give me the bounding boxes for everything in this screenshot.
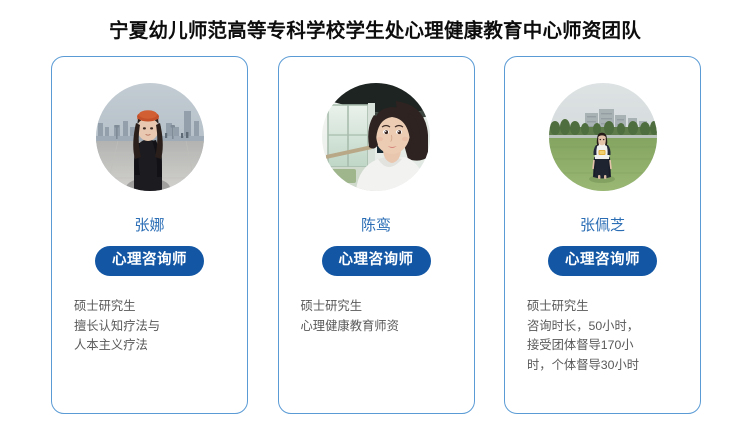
avatar-photo-zhangna <box>96 83 204 191</box>
person-description: 硕士研究生 擅长认知疗法与 人本主义疗法 <box>74 297 235 356</box>
desc-line: 硕士研究生 <box>74 297 235 317</box>
badge-container: 心理咨询师 <box>505 246 700 276</box>
desc-line: 心理健康教育师资 <box>301 317 462 337</box>
avatar <box>96 83 204 191</box>
person-name: 陈鸾 <box>279 214 474 235</box>
desc-line: 接受团体督导170小 <box>527 336 688 356</box>
page-title: 宁夏幼儿师范高等专科学校学生处心理健康教育中心师资团队 <box>0 14 750 43</box>
poster-root: 宁夏幼儿师范高等专科学校学生处心理健康教育中心师资团队 <box>0 0 750 442</box>
person-name: 张娜 <box>52 214 247 235</box>
desc-line: 擅长认知疗法与 <box>74 317 235 337</box>
teacher-card[interactable]: 张佩芝 心理咨询师 硕士研究生 咨询时长，50小时， 接受团体督导170小 时，… <box>504 56 701 414</box>
badge-container: 心理咨询师 <box>279 246 474 276</box>
status-badge: 心理咨询师 <box>548 246 657 276</box>
teacher-card[interactable]: 张娜 心理咨询师 硕士研究生 擅长认知疗法与 人本主义疗法 <box>51 56 248 414</box>
teacher-card[interactable]: 陈鸾 心理咨询师 硕士研究生 心理健康教育师资 <box>278 56 475 414</box>
desc-line: 人本主义疗法 <box>74 336 235 356</box>
desc-line: 咨询时长，50小时， <box>527 317 688 337</box>
status-badge: 心理咨询师 <box>95 246 204 276</box>
avatar <box>549 83 657 191</box>
teacher-card-list: 张娜 心理咨询师 硕士研究生 擅长认知疗法与 人本主义疗法 <box>51 56 701 414</box>
desc-line: 时，个体督导30小时 <box>527 356 688 376</box>
status-badge: 心理咨询师 <box>322 246 431 276</box>
person-description: 硕士研究生 心理健康教育师资 <box>301 297 462 336</box>
desc-line: 硕士研究生 <box>527 297 688 317</box>
desc-line: 硕士研究生 <box>301 297 462 317</box>
avatar <box>322 83 430 191</box>
person-description: 硕士研究生 咨询时长，50小时， 接受团体督导170小 时，个体督导30小时 <box>527 297 688 375</box>
badge-container: 心理咨询师 <box>52 246 247 276</box>
avatar-photo-zhangpeizhi <box>549 83 657 191</box>
person-name: 张佩芝 <box>505 214 700 235</box>
avatar-photo-chenluan <box>322 83 430 191</box>
